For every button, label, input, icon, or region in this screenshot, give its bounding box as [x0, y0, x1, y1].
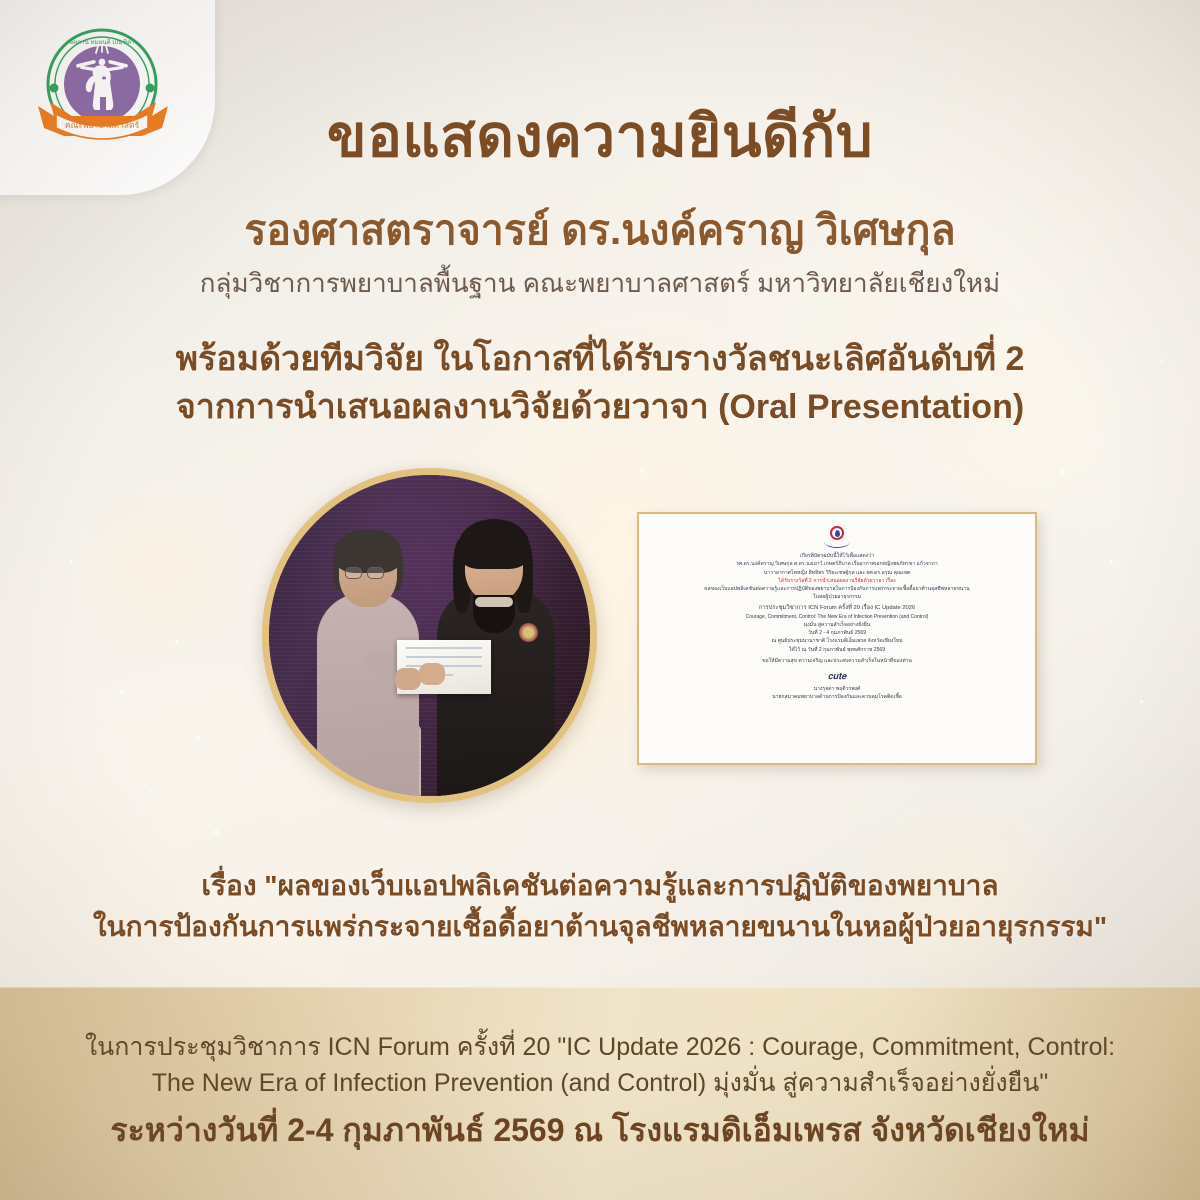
certificate-line-1: เกียรติบัตรฉบับนี้ให้ไว้เพื่อแสดงว่า: [651, 552, 1023, 560]
certificate-line-5: ผลของเว็บแอปพลิเคชันต่อความรู้และการปฏิบ…: [651, 585, 1023, 593]
event-date-venue: ระหว่างวันที่ 2-4 กุมภาพันธ์ 2569 ณ โรงแ…: [0, 1105, 1200, 1156]
certificate-emblem-icon: [824, 526, 850, 550]
sparkle: [1140, 700, 1143, 703]
certificate-line-3: นาวาอากาศโทหญิง สิทธิพร วิริยะเชษฐ์กุล แ…: [651, 569, 1023, 577]
award-certificate: เกียรติบัตรฉบับนี้ให้ไว้เพื่อแสดงว่า รศ.…: [637, 512, 1037, 765]
sparkle: [175, 640, 178, 643]
certificate-line-12: ให้ไว้ ณ วันที่ 2 กุมภาพันธ์ พุทธศักราช …: [651, 646, 1023, 654]
certificate-award-highlight: ได้รับรางวัลที่ 2 การนำเสนอผลงานวิจัยด้ว…: [651, 577, 1023, 585]
certificate-signature: 𝐜𝐮𝐭𝐞: [651, 669, 1023, 684]
bottom-banner: ในการประชุมวิชาการ ICN Forum ครั้งที่ 20…: [0, 987, 1200, 1200]
poster-canvas: อตฺตานํ ทมยนฺติ ปณฺฑิตา มหาวิทยาลัยเชียง…: [0, 0, 1200, 1200]
sparkle: [70, 560, 73, 563]
page-title: ขอแสดงความยินดีกับ: [0, 105, 1200, 169]
sparkle: [120, 690, 124, 694]
certificate-signer-name: นางรุจดา พฤติวรพงศ์: [651, 685, 1023, 693]
sparkle: [214, 830, 218, 834]
honoree-affiliation: กลุ่มวิชาการพยาบาลพื้นฐาน คณะพยาบาลศาสตร…: [0, 268, 1200, 299]
sparkle: [1060, 470, 1064, 474]
award-ceremony-photo: [262, 468, 597, 803]
awardee-necklace: [475, 597, 513, 607]
conference-details: ในการประชุมวิชาการ ICN Forum ครั้งที่ 20…: [0, 1029, 1200, 1102]
sparkle: [1110, 560, 1113, 563]
certificate-line-11: ณ ศูนย์ประชุมนานาชาติ โรงแรมดิเอ็มเพรส จ…: [651, 637, 1023, 645]
conference-line-2: The New Era of Infection Prevention (and…: [0, 1065, 1200, 1101]
research-title: เรื่อง "ผลของเว็บแอปพลิเคชันต่อความรู้แล…: [0, 866, 1200, 947]
award-description: พร้อมด้วยทีมวิจัย ในโอกาสที่ได้รับรางวัล…: [0, 335, 1200, 432]
certificate-line-2: รศ.ดร.นงค์คราญ วิเศษกุล ศ.ดร.นงเยาว์ เกษ…: [651, 560, 1023, 568]
conference-line-1: ในการประชุมวิชาการ ICN Forum ครั้งที่ 20…: [0, 1029, 1200, 1065]
awardee-brooch: [519, 623, 538, 642]
sparkle: [150, 790, 153, 793]
presenter-hand: [395, 668, 421, 690]
presenter-body: [317, 593, 419, 803]
certificate-line-8: Courage, Commitment, Control: The New Er…: [651, 613, 1023, 621]
presenter-glasses: [345, 567, 362, 579]
svg-text:อตฺตานํ ทมยนฺติ ปณฺฑิตา: อตฺตานํ ทมยนฺติ ปณฺฑิตา: [69, 39, 134, 46]
presenter-hair: [335, 529, 401, 573]
award-line-2: จากการนำเสนอผลงานวิจัยด้วยวาจา (Oral Pre…: [0, 383, 1200, 431]
awardee-hand: [419, 663, 445, 685]
research-title-line-1: เรื่อง "ผลของเว็บแอปพลิเคชันต่อความรู้แล…: [0, 866, 1200, 907]
award-line-1: พร้อมด้วยทีมวิจัย ในโอกาสที่ได้รับรางวัล…: [0, 335, 1200, 383]
research-title-line-2: ในการป้องกันการแพร่กระจายเชื้อดื้อยาต้าน…: [0, 907, 1200, 948]
honoree-name: รองศาสตราจารย์ ดร.นงค์คราญ วิเศษกุล: [0, 207, 1200, 254]
certificate-line-6: ในหอผู้ป่วยอายุรกรรม: [651, 593, 1023, 601]
certificate-line-10: วันที่ 2 - 4 กุมภาพันธ์ 2569: [651, 629, 1023, 637]
bokeh-glow-2: [60, 470, 260, 670]
presenter-glasses: [367, 567, 384, 579]
certificate-line-7: การประชุมวิชาการ ICN Forum ครั้งที่ 20 เ…: [651, 604, 1023, 613]
certificate-line-13: ขอให้มีความสุข ความเจริญ และประสบความสำเ…: [651, 657, 1023, 665]
sparkle: [196, 735, 200, 739]
certificate-signer-title: นายกสมาคมพยาบาลด้านการป้องกันและควบคุมโร…: [651, 693, 1023, 701]
certificate-line-9: มุ่งมั่น สู่ความสำเร็จอย่างยั่งยืน: [651, 621, 1023, 629]
sparkle: [640, 470, 643, 473]
awardee-hair: [459, 519, 529, 569]
